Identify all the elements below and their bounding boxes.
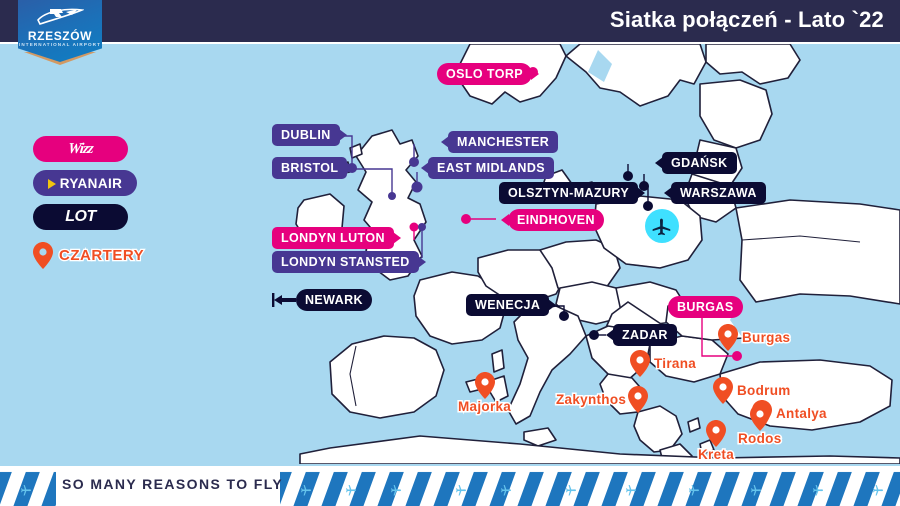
destination-label-east-midlands[interactable]: EAST MIDLANDS [428, 157, 554, 179]
destination-name: WENECJA [475, 298, 540, 312]
destination-label-bristol[interactable]: BRISTOL [272, 157, 347, 179]
destination-label-manchester[interactable]: MANCHESTER [448, 131, 558, 153]
charter-marker-kreta[interactable]: Kreta [698, 420, 734, 462]
destination-name: OSLO TORP [446, 67, 523, 81]
destination-name: BRISTOL [281, 161, 338, 175]
ryanair-harp-icon [48, 179, 56, 189]
pill-pointer [418, 256, 426, 268]
charter-name: Zakynthos [556, 392, 626, 407]
destination-name: WARSZAWA [680, 186, 757, 200]
legend-item-lot[interactable]: LOT [33, 204, 128, 230]
destination-name: OLSZTYN-MAZURY [508, 186, 629, 200]
legend-item-charter[interactable]: CZARTERY [33, 242, 144, 269]
map-pin-icon [718, 324, 738, 351]
airplane-orbit-icon [18, 6, 102, 28]
pill-pointer [548, 299, 556, 311]
destination-label-burgas[interactable]: BURGAS [668, 296, 743, 318]
map-pin-icon [33, 242, 53, 269]
destination-label-eindhoven[interactable]: EINDHOVEN [508, 209, 604, 231]
logo-name: RZESZÓW [18, 29, 102, 43]
pill-pointer [393, 232, 401, 244]
charter-marker-zakynthos[interactable]: Zakynthos [556, 386, 648, 413]
legend-item-wizzair[interactable]: Wizz [33, 136, 128, 162]
destination-label-newark[interactable]: NEWARK [296, 289, 372, 311]
destination-label-londyn-stansted[interactable]: LONDYN STANSTED [272, 251, 419, 273]
footer-slogan: SO MANY REASONS TO FLY [62, 476, 283, 492]
ryanair-logo: RYANAIR [60, 176, 123, 191]
page-title: Siatka połączeń - Lato `22 [610, 7, 884, 33]
destination-name: EAST MIDLANDS [437, 161, 545, 175]
pill-pointer [421, 162, 429, 174]
destination-name: GDAŃSK [671, 156, 728, 170]
carrier-legend: Wizz RYANAIR LOT CZARTERY [33, 136, 144, 269]
destination-label-zadar[interactable]: ZADAR [613, 324, 677, 346]
destination-name: MANCHESTER [457, 135, 549, 149]
destination-name: DUBLIN [281, 128, 331, 142]
charter-name: Bodrum [737, 383, 791, 398]
charter-name: Rodos [738, 431, 782, 446]
map-pin-icon [475, 372, 495, 399]
pill-pointer [606, 329, 614, 341]
pill-pointer [637, 187, 645, 199]
poster-canvas: .land{fill:#FFFFFF;stroke:#20203A;stroke… [0, 0, 900, 506]
charter-marker-majorka[interactable]: Majorka [458, 372, 511, 414]
charter-name: Tirana [654, 356, 696, 371]
pill-pointer [346, 162, 354, 174]
pill-pointer [664, 187, 672, 199]
header-divider [0, 42, 900, 44]
map-pin-icon [750, 404, 770, 431]
destination-label-olsztyn-mazury[interactable]: OLSZTYN-MAZURY [499, 182, 638, 204]
pill-pointer [531, 68, 539, 80]
charter-marker-tirana[interactable]: Tirana [630, 350, 696, 377]
pill-pointer [655, 157, 663, 169]
header-bar: Siatka połączeń - Lato `22 [0, 0, 900, 42]
charter-name: Burgas [742, 330, 790, 345]
logo-subtitle: INTERNATIONAL AIRPORT [18, 42, 102, 47]
home-airport-marker-rzeszow[interactable] [645, 209, 679, 243]
destination-label-wenecja[interactable]: WENECJA [466, 294, 549, 316]
destination-name: NEWARK [305, 293, 363, 307]
destination-name: BURGAS [677, 300, 734, 314]
destination-name: LONDYN LUTON [281, 231, 385, 245]
charter-name: Kreta [698, 447, 734, 462]
charter-marker-burgas[interactable]: Burgas [718, 324, 790, 351]
destination-name: LONDYN STANSTED [281, 255, 410, 269]
map-pin-icon [706, 420, 726, 447]
wizzair-logo: Wizz [67, 141, 93, 158]
map-pin-icon [628, 386, 648, 413]
destination-label-dublin[interactable]: DUBLIN [272, 124, 340, 146]
pill-pointer [339, 129, 347, 141]
destination-label-gdansk[interactable]: GDAŃSK [662, 152, 737, 174]
lot-logo: LOT [65, 208, 96, 226]
charter-name: Antalya [776, 406, 827, 421]
map-pin-icon [713, 377, 733, 404]
charter-marker-rodos[interactable]: Rodos [738, 404, 782, 446]
charter-legend-label: CZARTERY [59, 247, 144, 264]
pill-pointer [441, 136, 449, 148]
destination-label-oslo-torp[interactable]: OSLO TORP [437, 63, 532, 85]
pill-pointer [501, 214, 509, 226]
charter-name: Majorka [458, 399, 511, 414]
airplane-icon [651, 215, 673, 237]
airplane-left-icon [272, 290, 298, 315]
destination-name: ZADAR [622, 328, 668, 342]
legend-item-ryanair[interactable]: RYANAIR [33, 170, 137, 196]
footer-banner: SO MANY REASONS TO FLY [0, 466, 900, 506]
destination-name: EINDHOVEN [517, 213, 595, 227]
destination-label-londyn-luton[interactable]: LONDYN LUTON [272, 227, 394, 249]
destination-label-warszawa[interactable]: WARSZAWA [671, 182, 766, 204]
map-pin-icon [630, 350, 650, 377]
